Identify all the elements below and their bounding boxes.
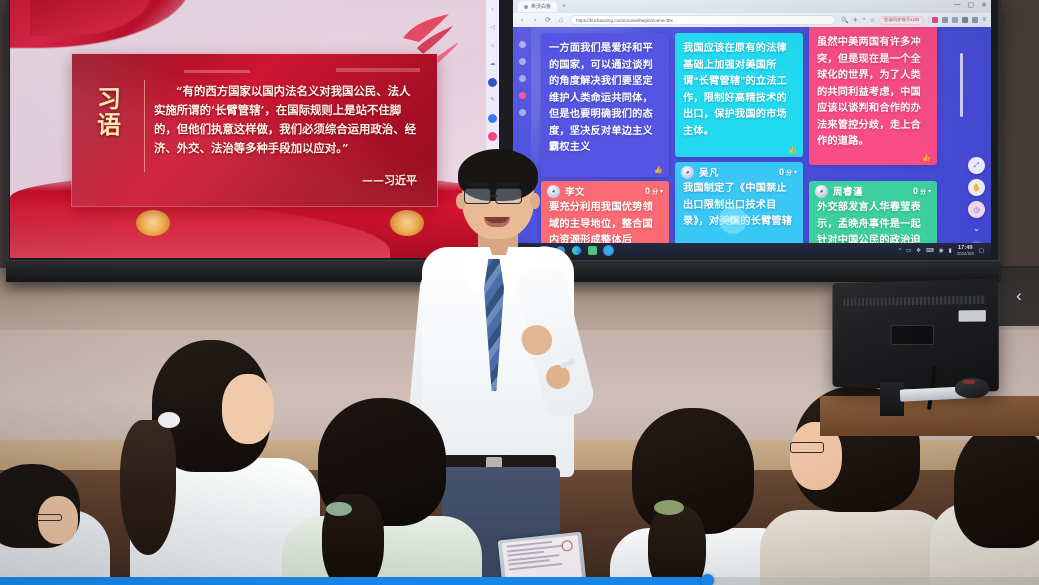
expand-icon[interactable]: ⤢: [968, 157, 985, 174]
chevron-down-icon[interactable]: ▾: [660, 188, 663, 195]
record-icon[interactable]: [488, 114, 497, 123]
monitor-label: [959, 310, 986, 322]
home-icon[interactable]: ⌂: [488, 42, 497, 51]
download-icon[interactable]: [962, 17, 968, 23]
taskbar-clock[interactable]: 17:49 2024/5/8: [957, 245, 974, 257]
add-icon[interactable]: ✛: [853, 17, 858, 24]
cloud-icon[interactable]: ☁: [488, 60, 497, 69]
collapse-panel-tab[interactable]: ‹: [999, 266, 1039, 326]
hair-tie: [158, 412, 180, 428]
rail-doc-icon[interactable]: [519, 75, 526, 82]
card-text: 一方面我们是爱好和平的国家，可以通过谈判的角度解决我们要坚定维护人类命运共同体，…: [541, 33, 669, 161]
back-icon[interactable]: ‹: [518, 17, 526, 24]
glasses-bridge: [491, 195, 497, 197]
system-tray[interactable]: ^ ▭ ✥ ⌨ ◉ ▮ 17:49 2024/5/8 ▢: [899, 245, 992, 257]
maximize-icon[interactable]: ▢: [968, 1, 975, 9]
hair-tie: [654, 500, 684, 515]
address-bar-url: https://kuchaoxing.com/course/begin/conn…: [576, 18, 673, 23]
new-tab-button[interactable]: +: [562, 3, 566, 10]
glasses-icon: [790, 442, 824, 453]
browser-nav-bar[interactable]: ‹ › ⟳ ⌂ https://kuchaoxing.com/course/be…: [513, 13, 991, 27]
clock-date: 2024/5/8: [957, 251, 974, 257]
video-progress-handle[interactable]: [701, 574, 714, 585]
rail-grid-icon[interactable]: [519, 58, 526, 65]
shield-icon[interactable]: ◔: [862, 17, 866, 23]
scrollbar-thumb[interactable]: [960, 53, 963, 117]
search-icon[interactable]: 🔍: [841, 17, 848, 24]
favicon-icon: [524, 5, 528, 9]
stop-icon[interactable]: [488, 132, 497, 141]
like-icon[interactable]: 👍: [788, 146, 797, 154]
card-text: 虽然中美两国有许多冲突，但是现在是一个全球化的世界，为了人类的共同利益考虑，中国…: [809, 27, 937, 155]
clip-icon[interactable]: [942, 17, 948, 23]
answer-cards-grid: 一方面我们是爱好和平的国家，可以通过谈判的角度解决我们要坚定维护人类命运共同体，…: [531, 29, 951, 243]
translate-icon[interactable]: [952, 17, 958, 23]
chevron-down-icon[interactable]: ⌄: [973, 224, 980, 233]
score-unit: 分: [786, 168, 792, 177]
quote-card: 习语 “有的西方国家以国内法名义对我国公民、法人实施所谓的‘长臂管辖’，在国际规…: [72, 54, 437, 206]
chevron-down-icon[interactable]: ▾: [928, 188, 931, 195]
sound-icon[interactable]: ◁: [488, 24, 497, 33]
menu-icon[interactable]: ≡: [982, 17, 986, 23]
quote-author: ——习近平: [362, 172, 417, 188]
teacher-brow-right: [497, 183, 519, 186]
student-ponytail: [120, 420, 176, 555]
student-hair: [954, 424, 1039, 548]
card-text: 我国应该在原有的法律基础上加强对美国所谓“长臂管辖”的立法工作，限制好高精技术的…: [675, 33, 803, 144]
reload-icon[interactable]: ⟳: [544, 16, 552, 24]
like-icon[interactable]: 👍: [654, 166, 663, 174]
answer-card[interactable]: 我国应该在原有的法律基础上加强对美国所谓“长臂管辖”的立法工作，限制好高精技术的…: [675, 33, 803, 157]
quote-text: “有的西方国家以国内法名义对我国公民、法人实施所谓的‘长臂管辖’，在国际规则上是…: [154, 82, 418, 158]
browser-viewport[interactable]: 一方面我们是爱好和平的国家，可以通过谈判的角度解决我们要坚定维护人类命运共同体，…: [513, 27, 991, 243]
score-badge[interactable]: 0分▾: [913, 186, 931, 196]
battery-icon[interactable]: ▮: [949, 248, 952, 254]
score-badge[interactable]: 0分▾: [779, 167, 797, 177]
avatar: ◕: [681, 166, 694, 179]
score-unit: 分: [652, 187, 658, 196]
timer-icon[interactable]: ◷: [968, 201, 985, 218]
highlight-badge: 限制: [719, 206, 747, 234]
rail-menu-icon[interactable]: [519, 41, 526, 48]
extensions-group[interactable]: ≡: [928, 17, 986, 23]
browser-tab-strip[interactable]: 希沃白板 + — ▢ ✕: [513, 0, 991, 13]
card-text: 外交部发言人华春莹表示，孟晚舟事件是一起针对中国公民的政治迫: [809, 199, 937, 243]
forward-icon[interactable]: ›: [531, 17, 539, 24]
score-value: 0: [913, 186, 918, 196]
glasses-icon: [464, 188, 491, 204]
chevron-down-icon[interactable]: ▾: [794, 169, 797, 176]
answer-card[interactable]: 虽然中美两国有许多冲突，但是现在是一个全球化的世界，为了人类的共同利益考虑，中国…: [809, 27, 937, 165]
bookmark-icon[interactable]: [932, 17, 938, 23]
star-icon[interactable]: ☆: [869, 17, 874, 24]
video-progress-track[interactable]: [0, 577, 1039, 585]
teacher-brow-left: [466, 183, 488, 186]
account-chip[interactable]: 登录/同步账号1205: [879, 16, 925, 25]
notification-icon[interactable]: ▢: [979, 248, 984, 254]
app-green-icon[interactable]: [588, 246, 597, 255]
hair-tie: [326, 502, 352, 516]
account-label: 登录/同步账号1205: [884, 17, 920, 23]
student-name: 吴凡: [699, 165, 719, 179]
back-icon[interactable]: ‹: [488, 6, 497, 15]
target-icon[interactable]: [488, 78, 497, 87]
score-value: 0: [779, 167, 784, 177]
student-body: [760, 510, 950, 585]
like-icon[interactable]: 👍: [922, 154, 931, 162]
quote-label: 习语: [88, 86, 130, 138]
windows-taskbar[interactable]: ⊞ ^ ▭ ✥ ⌨ ◉ ▮ 17:49 2024/5/8 ▢: [513, 243, 991, 258]
student-name: 周睿谨: [833, 184, 863, 198]
answer-card[interactable]: ◕ 周睿谨 0分▾ 外交部发言人华春莹表示，孟晚舟事件是一起针对中国公民的政治迫: [809, 181, 937, 243]
quote-divider: [144, 80, 145, 172]
chevron-up-icon[interactable]: ^: [899, 248, 902, 254]
keyboard-icon[interactable]: ⌨: [926, 248, 934, 254]
card-header: ◕ 周睿谨 0分▾: [809, 181, 937, 199]
pen-icon[interactable]: ✎: [488, 96, 497, 105]
scissors-icon[interactable]: [972, 17, 978, 23]
quote-decor-line-1: [184, 70, 250, 73]
mouse-led: [963, 380, 975, 384]
rail-alert-icon[interactable]: [519, 92, 526, 99]
screenshot-root: 习语 “有的西方国家以国内法名义对我国公民、法人实施所谓的‘长臂管辖’，在国际规…: [0, 0, 1039, 585]
quote-decor-line-2: [336, 68, 420, 72]
avatar: ◕: [815, 185, 828, 198]
chevron-left-icon: ‹: [1016, 286, 1022, 306]
browser-tab-title: 希沃白板: [531, 3, 551, 10]
floating-action-buttons[interactable]: ⤢ ✋ ◷ ⌄: [968, 157, 985, 233]
score-unit: 分: [920, 187, 926, 196]
hand-icon[interactable]: ✋: [968, 179, 985, 196]
monitor-vent: [843, 296, 985, 307]
student-figure: [260, 398, 480, 585]
network-icon[interactable]: ▭: [906, 248, 911, 254]
computer-monitor-rear: [833, 279, 999, 392]
volume-icon[interactable]: ◉: [939, 248, 944, 254]
close-icon[interactable]: ✕: [981, 1, 987, 9]
browser-tab[interactable]: 希沃白板: [518, 1, 557, 12]
monitor-port-plate: [891, 325, 934, 345]
minimize-icon[interactable]: —: [954, 1, 961, 9]
student-ponytail: [648, 506, 706, 585]
video-progress-fill: [0, 577, 707, 585]
seewo-icon[interactable]: [604, 246, 613, 255]
glasses-icon: [36, 514, 62, 521]
rail-user-icon[interactable]: [519, 109, 526, 116]
nav-icon-group[interactable]: 🔍 ✛ ◔ ☆ 登录/同步账号1205 ≡: [841, 16, 986, 25]
right-display-panel[interactable]: 希沃白板 + — ▢ ✕ ‹ › ⟳ ⌂ https://kuchaoxing.…: [513, 0, 991, 258]
settings-icon[interactable]: ✥: [916, 248, 921, 254]
address-bar[interactable]: https://kuchaoxing.com/course/begin/conn…: [570, 15, 836, 25]
teacher-left-hand: [546, 365, 570, 389]
card-header: ◕ 吴凡 0分▾: [675, 162, 803, 180]
glasses-lens-right: [495, 188, 522, 204]
score-badge[interactable]: 0分▾: [645, 186, 663, 196]
stamp-icon: [561, 540, 573, 552]
home-icon[interactable]: ⌂: [557, 17, 565, 24]
answer-card[interactable]: ◕ 吴凡 0分▾ 我国制定了《中国禁止出口限制出口技术目录》，对美国的长臂管辖 …: [675, 162, 803, 243]
student-figure: [0, 470, 110, 585]
slide-emblem-left: [136, 210, 170, 236]
window-controls[interactable]: — ▢ ✕: [954, 1, 988, 9]
student-figure: [930, 430, 1039, 585]
score-value: 0: [645, 186, 650, 196]
teacher-ear-right: [530, 193, 540, 209]
